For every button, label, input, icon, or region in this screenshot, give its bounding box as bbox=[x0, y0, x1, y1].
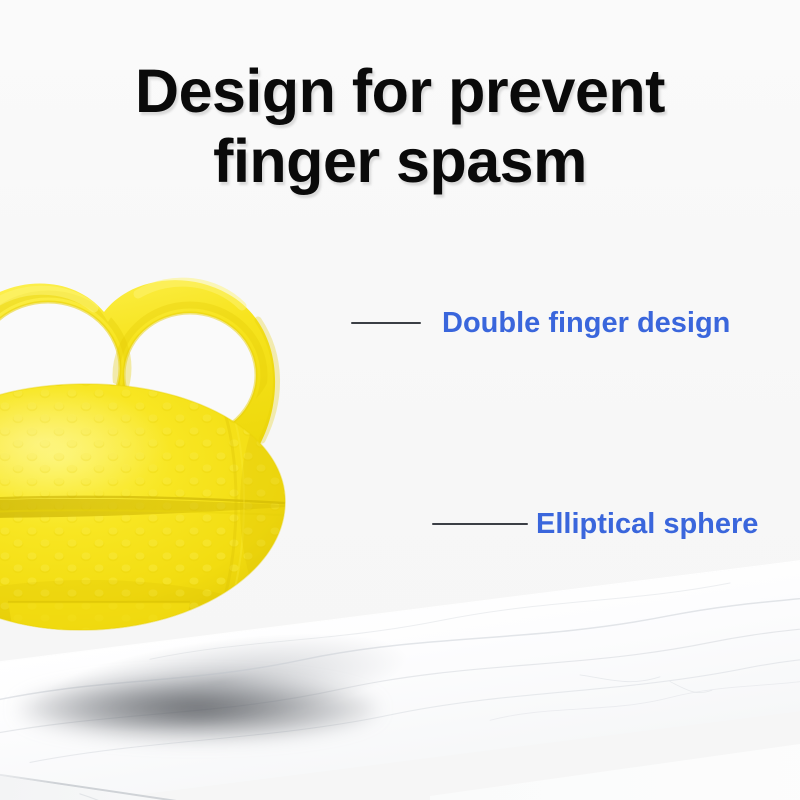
page-title: Design for prevent finger spasm bbox=[0, 56, 800, 196]
product-drop-shadow bbox=[18, 678, 378, 740]
callout-elliptical-sphere: Elliptical sphere bbox=[432, 507, 758, 541]
callout-double-finger-design: Double finger design bbox=[351, 306, 730, 340]
callout-label: Elliptical sphere bbox=[536, 507, 758, 541]
callout-leader-line bbox=[351, 322, 421, 324]
product-feature-image: Design for prevent finger spasm bbox=[0, 0, 800, 800]
callout-leader-line bbox=[432, 523, 528, 525]
elliptical-ball-body bbox=[0, 370, 360, 704]
callout-label: Double finger design bbox=[442, 306, 730, 340]
